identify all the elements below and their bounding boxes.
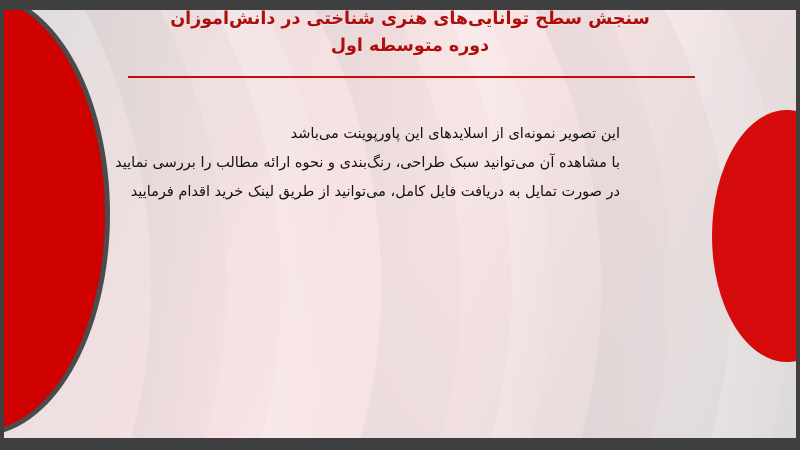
slide-body-text: این تصویر نمونه‌ای از اسلایدهای این پاور… — [160, 120, 620, 207]
body-line-2: با مشاهده آن می‌توانید سبک طراحی، رنگ‌بن… — [160, 149, 620, 178]
slide-content: سنجش سطح توانایی‌های هنری شناختی در دانش… — [0, 0, 800, 450]
frame-band-top — [0, 0, 800, 10]
slide-title: سنجش سطح توانایی‌های هنری شناختی در دانش… — [110, 6, 710, 60]
frame-band-right — [796, 0, 800, 450]
body-line-3: در صورت تمایل به دریافت فایل کامل، می‌تو… — [160, 178, 620, 207]
slide-canvas: سنجش سطح توانایی‌های هنری شناختی در دانش… — [0, 0, 800, 450]
slide-title-line-1: سنجش سطح توانایی‌های هنری شناختی در دانش… — [110, 6, 710, 33]
title-divider-rule — [128, 76, 695, 78]
frame-band-left — [0, 0, 4, 450]
frame-band-bottom — [0, 438, 800, 450]
slide-title-line-2: دوره متوسطه اول — [110, 33, 710, 60]
body-line-1: این تصویر نمونه‌ای از اسلایدهای این پاور… — [160, 120, 620, 149]
